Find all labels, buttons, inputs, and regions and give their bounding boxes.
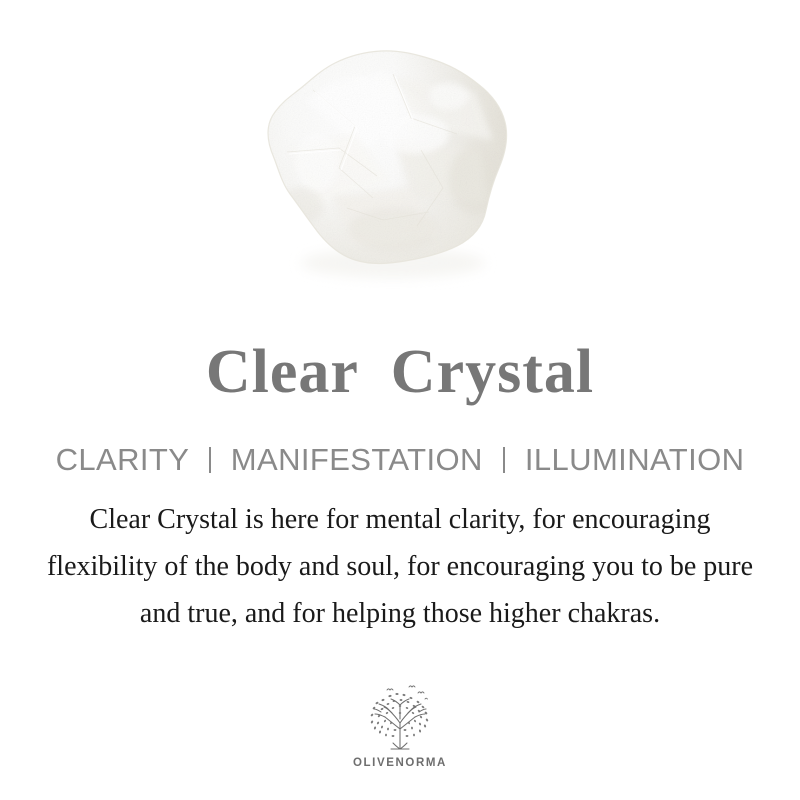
product-image-area <box>0 0 800 320</box>
brand-logo: OLIVENORMA <box>0 683 800 769</box>
product-description: Clear Crystal is here for mental clarity… <box>40 496 760 637</box>
keyword-manifestation: MANIFESTATION <box>231 442 483 477</box>
keyword-clarity: CLARITY <box>56 442 189 477</box>
keyword-separator <box>209 447 211 473</box>
product-info-card: Clear Crystal CLARITY MANIFESTATION ILLU… <box>0 0 800 800</box>
tree-of-life-icon <box>357 683 443 755</box>
crystal-illustration <box>243 30 523 295</box>
page-title: Clear Crystal <box>0 336 800 408</box>
keyword-separator <box>503 447 505 473</box>
keyword-illumination: ILLUMINATION <box>525 442 745 477</box>
keyword-list: CLARITY MANIFESTATION ILLUMINATION <box>0 441 800 479</box>
clear-crystal-photo <box>243 30 523 295</box>
brand-name: OLIVENORMA <box>0 757 800 769</box>
